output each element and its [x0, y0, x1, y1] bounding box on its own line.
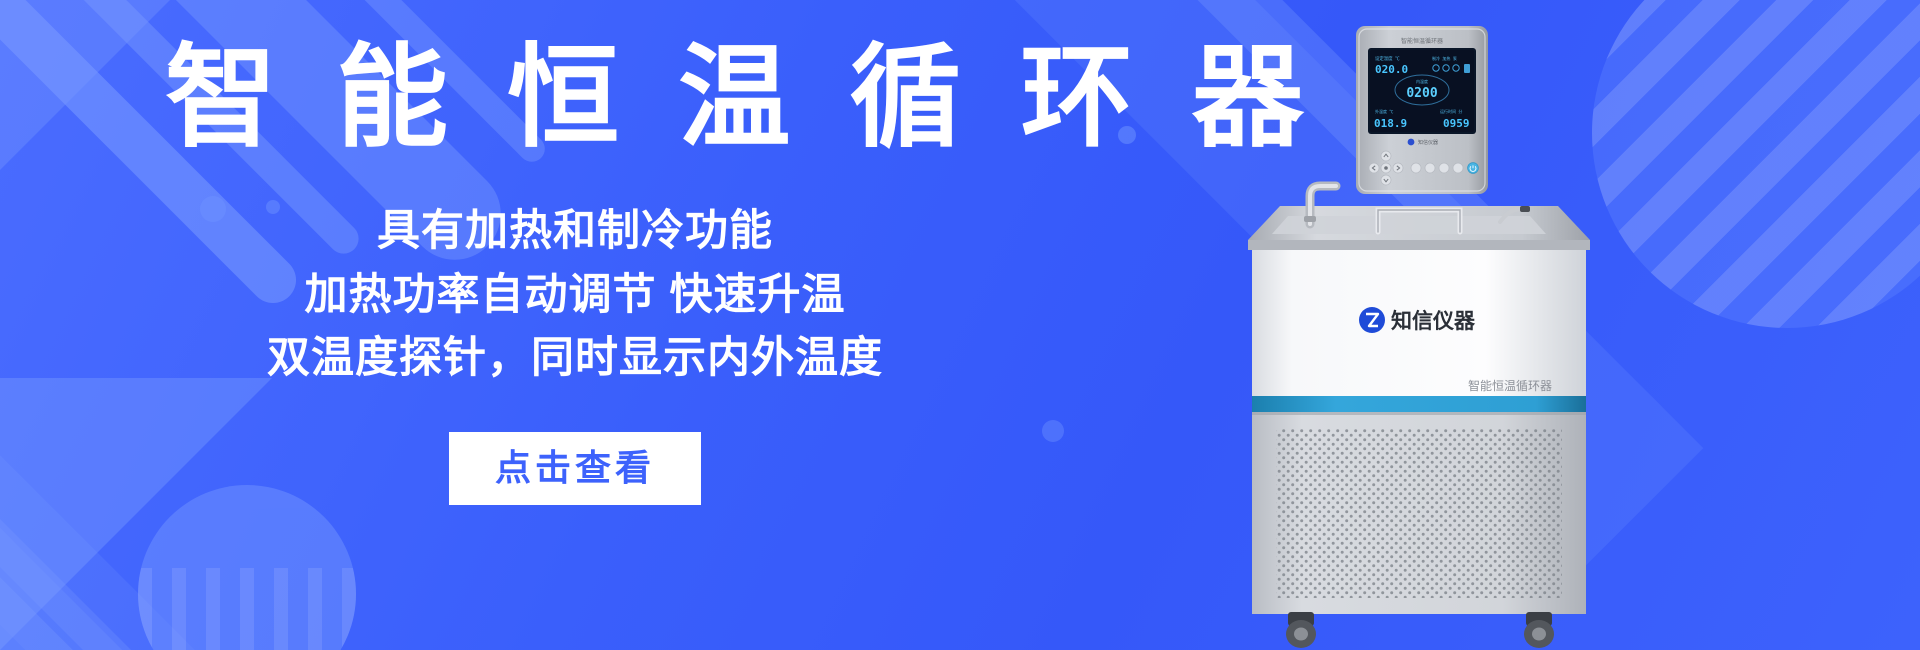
lcd-center-value: 0200 [1406, 86, 1437, 101]
accent-stripe [1252, 396, 1586, 412]
control-panel[interactable]: 智能恒温循环器 设定温度 ℃ 020.0 制冷 加热 泵 [1356, 26, 1488, 194]
subtitle-line-2: 加热功率自动调节 快速升温 [0, 264, 1150, 328]
chevron-left-icon [1369, 163, 1379, 173]
brand-logo: 知信仪器 [1359, 307, 1476, 333]
function-key-icon [1411, 163, 1421, 173]
lcd-bottom-right-label: 运行时间 分 [1440, 108, 1462, 114]
lcd-top-left-value: 020.0 [1375, 63, 1408, 76]
machine-body: 知信仪器 智能恒温循环器 [1252, 250, 1586, 414]
lcd-status-label: 制冷 加热 泵 [1432, 55, 1457, 61]
chevron-right-icon [1393, 163, 1403, 173]
lcd-display: 设定温度 ℃ 020.0 制冷 加热 泵 内温度 0200 [1368, 48, 1476, 134]
function-key-icon [1425, 163, 1435, 173]
caster-right [1524, 612, 1554, 648]
panel-brand: 知信仪器 [1408, 139, 1438, 146]
tank-top [1248, 186, 1590, 250]
chevron-down-icon [1381, 175, 1391, 185]
function-key-icon [1453, 163, 1463, 173]
subtitle-list: 具有加热和制冷功能 加热功率自动调节 快速升温 双温度探针，同时显示内外温度 [0, 200, 1150, 391]
model-label-text: 智能恒温循环器 [1468, 378, 1552, 393]
lcd-bottom-right-value: 0959 [1443, 117, 1470, 130]
function-key-icon [1439, 163, 1449, 173]
panel-brand-text: 知信仪器 [1418, 139, 1438, 146]
lcd-bottom-left-value: 018.9 [1374, 117, 1407, 130]
panel-header-text: 智能恒温循环器 [1401, 37, 1443, 45]
promo-banner: 智 能 恒 温 循 环 器 具有加热和制冷功能 加热功率自动调节 快速升温 双温… [0, 0, 1920, 650]
product-illustration: 智能恒温循环器 设定温度 ℃ 020.0 制冷 加热 泵 [1160, 10, 1680, 650]
vent-grille [1276, 428, 1562, 598]
vent-section [1252, 412, 1586, 614]
chevron-up-icon [1381, 151, 1391, 161]
caster-left [1286, 612, 1316, 648]
lcd-bottom-left-label: 外温度 ℃ [1375, 108, 1393, 114]
lcd-center-label: 内温度 [1416, 78, 1428, 84]
brand-name-text: 知信仪器 [1391, 309, 1476, 333]
view-details-button[interactable]: 点击查看 [449, 432, 701, 505]
subtitle-line-1: 具有加热和制冷功能 [0, 200, 1150, 264]
hero-content: 智 能 恒 温 循 环 器 具有加热和制冷功能 加热功率自动调节 快速升温 双温… [0, 0, 1150, 650]
page-title: 智 能 恒 温 循 环 器 [165, 38, 1318, 159]
subtitle-line-3: 双温度探针，同时显示内外温度 [0, 327, 1150, 391]
lcd-top-left-label: 设定温度 ℃ [1375, 55, 1400, 62]
product-image: 智能恒温循环器 设定温度 ℃ 020.0 制冷 加热 泵 [1160, 10, 1680, 650]
casters [1286, 612, 1554, 648]
